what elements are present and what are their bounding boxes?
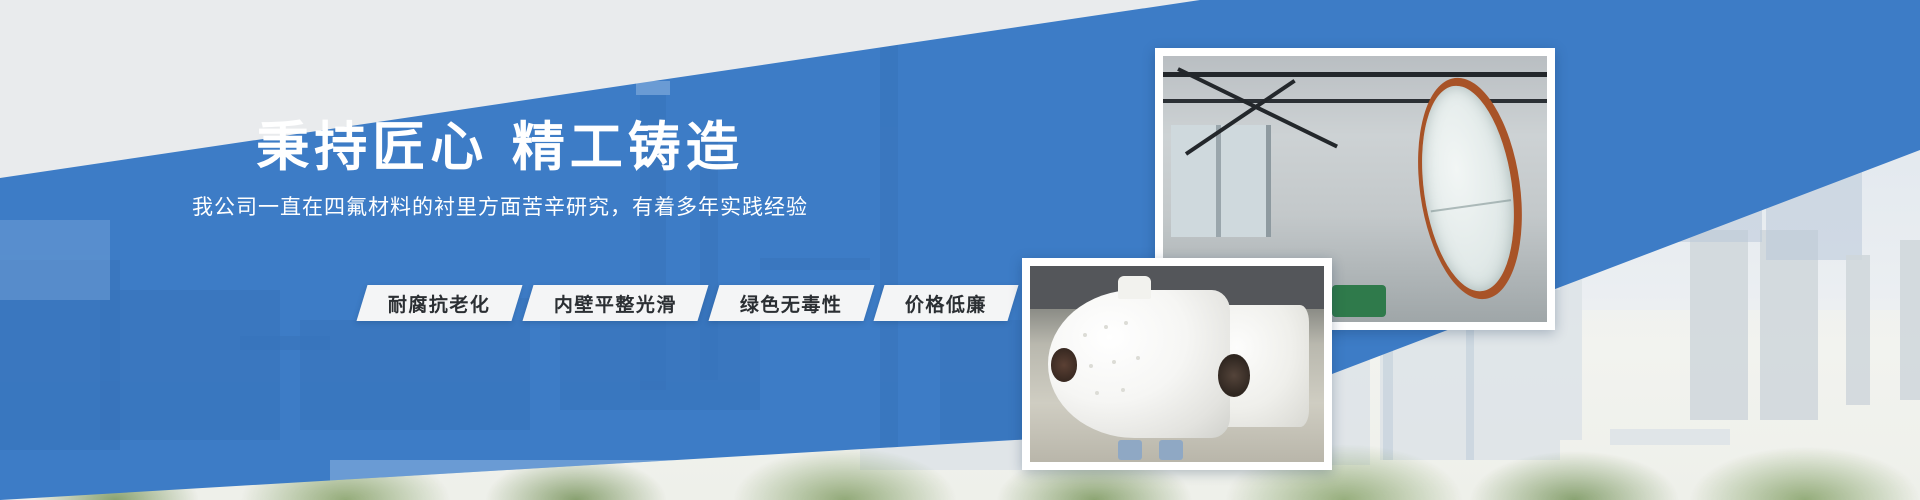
tank-stud bbox=[1104, 325, 1108, 329]
feature-tag-1-label: 耐腐抗老化 bbox=[388, 290, 491, 317]
tank-photo-inner bbox=[1030, 266, 1324, 462]
tank-stud bbox=[1121, 388, 1125, 392]
page-title: 秉持匠心 精工铸造 bbox=[0, 118, 1000, 178]
tank-stud bbox=[1136, 356, 1140, 360]
feature-tag-3-label: 绿色无毒性 bbox=[740, 290, 843, 317]
feature-tag-list: 耐腐抗老化 内壁平整光滑 绿色无毒性 价格低廉 bbox=[362, 285, 1013, 321]
tank-stud bbox=[1124, 321, 1128, 325]
tank-stud bbox=[1083, 333, 1087, 337]
subtitle: 我公司一直在四氟材料的衬里方面苦辛研究，有着多年实践经验 bbox=[0, 194, 1000, 221]
feature-tag-4-label: 价格低廉 bbox=[905, 290, 987, 317]
ceiling-beam-icon bbox=[1163, 72, 1547, 77]
feature-tag-2-label: 内壁平整光滑 bbox=[554, 290, 677, 317]
tank-scene bbox=[1030, 266, 1324, 462]
headline-block: 秉持匠心 精工铸造 我公司一直在四氟材料的衬里方面苦辛研究，有着多年实践经验 bbox=[0, 118, 1000, 222]
white-storage-tank-photo[interactable] bbox=[1022, 258, 1332, 470]
feature-tag-2[interactable]: 内壁平整光滑 bbox=[522, 285, 708, 321]
tank-support-foot bbox=[1118, 440, 1142, 460]
floor-equipment bbox=[1332, 285, 1386, 317]
tank-side-port-left bbox=[1051, 348, 1077, 381]
tank-stud bbox=[1089, 364, 1093, 368]
hero-banner: 秉持匠心 精工铸造 我公司一直在四氟材料的衬里方面苦辛研究，有着多年实践经验 耐… bbox=[0, 0, 1920, 500]
tank-manway-nozzle bbox=[1118, 276, 1150, 300]
feature-tag-3[interactable]: 绿色无毒性 bbox=[708, 285, 874, 321]
feature-tag-4[interactable]: 价格低廉 bbox=[874, 285, 1019, 321]
tank-support-foot bbox=[1159, 440, 1183, 460]
feature-tag-1[interactable]: 耐腐抗老化 bbox=[356, 285, 522, 321]
